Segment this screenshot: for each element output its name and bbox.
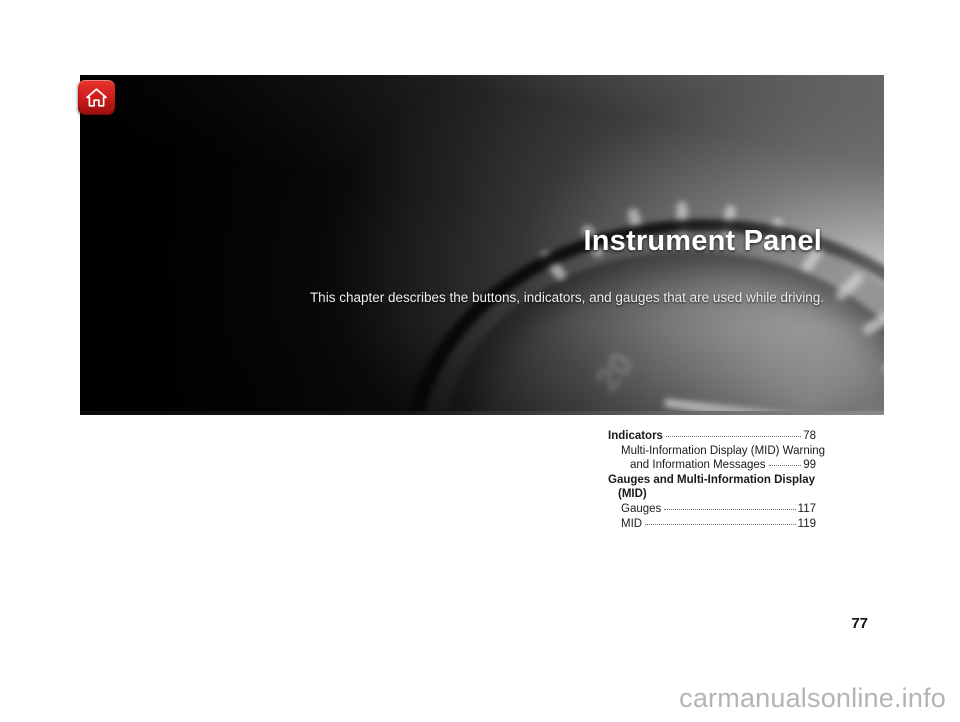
site-watermark: carmanualsonline.info [679,683,946,714]
toc-leader-dots [666,436,801,437]
toc-entry-label: Gauges and Multi-Information Display [608,473,815,488]
toc-leader-dots [645,524,796,525]
toc-entry[interactable]: MID 119 [608,517,816,532]
hero-bottom-edge [80,411,884,415]
home-icon [85,87,108,108]
chapter-title: Instrument Panel [584,225,822,258]
toc-entry-label: MID [621,517,642,532]
toc-entry-label: (MID) [618,487,647,502]
toc-entry-page: 99 [803,458,816,473]
toc-entry[interactable]: Gauges 117 [608,502,816,517]
chapter-hero-banner: 10 20 Instrument Panel This chapter desc… [80,75,884,415]
toc-entry-label: and Information Messages [630,458,766,473]
toc-entry[interactable]: (MID) [608,487,816,502]
toc-entry[interactable]: and Information Messages 99 [608,458,816,473]
toc-entry-page: 117 [798,502,816,517]
toc-entry-label: Indicators [608,429,663,444]
chapter-subtitle: This chapter describes the buttons, indi… [310,290,824,305]
home-button[interactable] [78,80,115,115]
toc-leader-dots [769,465,802,466]
toc-entry[interactable]: Multi-Information Display (MID) Warning [608,444,816,459]
page-number: 77 [851,615,868,632]
chapter-table-of-contents: Indicators 78 Multi-Information Display … [608,429,816,531]
toc-entry[interactable]: Gauges and Multi-Information Display [608,473,816,488]
toc-entry[interactable]: Indicators 78 [608,429,816,444]
toc-leader-dots [664,509,795,510]
toc-entry-page: 78 [803,429,816,444]
toc-entry-label: Gauges [621,502,661,517]
toc-entry-page: 119 [798,517,816,532]
manual-page: 10 20 Instrument Panel This chapter desc… [0,0,960,722]
toc-entry-label: Multi-Information Display (MID) Warning [621,444,825,459]
